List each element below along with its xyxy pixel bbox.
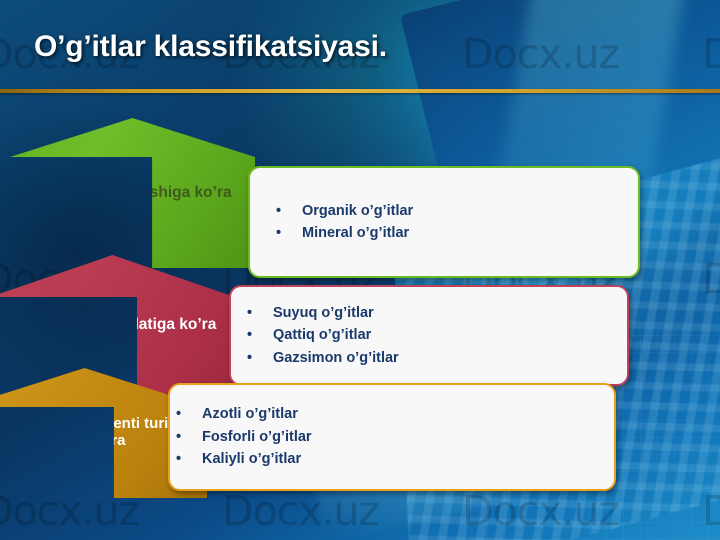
list-item: •Suyuq o’g’itlar <box>243 302 627 324</box>
watermark-text: Docx.uz <box>702 487 720 535</box>
list-item-label: Suyuq o’g’itlar <box>273 302 374 324</box>
list-item-label: Fosforli o’g’itlar <box>202 426 312 448</box>
title-underline-rule <box>0 89 720 93</box>
slide-canvas: Docx.uzDocx.uzDocx.uzDocx.uz Docx.uzDocx… <box>0 0 720 540</box>
list-item-label: Mineral o’g’itlar <box>302 222 409 244</box>
slide-title: O’g’itlar klassifikatsiyasi. <box>34 30 387 64</box>
list-item-label: Organik o’g’itlar <box>302 200 413 222</box>
content-list-nutrient: •Azotli o’g’itlar •Fosforli o’g’itlar •K… <box>170 403 614 470</box>
content-box-state: •Suyuq o’g’itlar •Qattiq o’g’itlar •Gazs… <box>229 285 629 386</box>
content-box-nutrient: •Azotli o’g’itlar •Fosforli o’g’itlar •K… <box>168 383 616 491</box>
bullet-icon: • <box>243 324 273 346</box>
bullet-icon: • <box>272 200 302 222</box>
arrow-shape-origin: Kelib chiqishiga ko’ra <box>10 118 255 268</box>
bullet-icon: • <box>272 222 302 244</box>
watermark-text: Docx.uz <box>702 30 720 78</box>
list-item: •Kaliyli o’g’itlar <box>172 448 614 470</box>
list-item-label: Kaliyli o’g’itlar <box>202 448 301 470</box>
bullet-icon: • <box>172 426 202 448</box>
list-item-label: Gazsimon o’g’itlar <box>273 347 399 369</box>
bullet-icon: • <box>172 448 202 470</box>
list-item: •Gazsimon o’g’itlar <box>243 347 627 369</box>
watermark-text: Docx.uz <box>222 487 462 535</box>
list-item: •Qattiq o’g’itlar <box>243 324 627 346</box>
list-item: •Organik o’g’itlar <box>272 200 638 222</box>
watermark-text: Docx.uz <box>702 255 720 303</box>
content-list-state: •Suyuq o’g’itlar •Qattiq o’g’itlar •Gazs… <box>231 302 627 369</box>
bullet-icon: • <box>243 347 273 369</box>
list-item: •Azotli o’g’itlar <box>172 403 614 425</box>
arrow-label-state: Agregat holatiga ko’ra <box>5 316 221 333</box>
watermark-text: Docx.uz <box>462 487 702 535</box>
watermark-row: Docx.uzDocx.uzDocx.uzDocx.uz <box>0 487 720 535</box>
list-item-label: Qattiq o’g’itlar <box>273 324 371 346</box>
list-item: •Fosforli o’g’itlar <box>172 426 614 448</box>
content-box-origin: •Organik o’g’itlar •Mineral o’g’itlar <box>248 166 640 278</box>
bullet-icon: • <box>172 403 202 425</box>
arrow-shape-state: Agregat holatiga ko’ra <box>0 255 235 395</box>
list-item: •Mineral o’g’itlar <box>272 222 638 244</box>
content-list-origin: •Organik o’g’itlar •Mineral o’g’itlar <box>250 200 638 245</box>
arrow-label-origin: Kelib chiqishiga ko’ra <box>29 184 235 201</box>
list-item-label: Azotli o’g’itlar <box>202 403 298 425</box>
bullet-icon: • <box>243 302 273 324</box>
watermark-text: Docx.uz <box>462 30 702 78</box>
